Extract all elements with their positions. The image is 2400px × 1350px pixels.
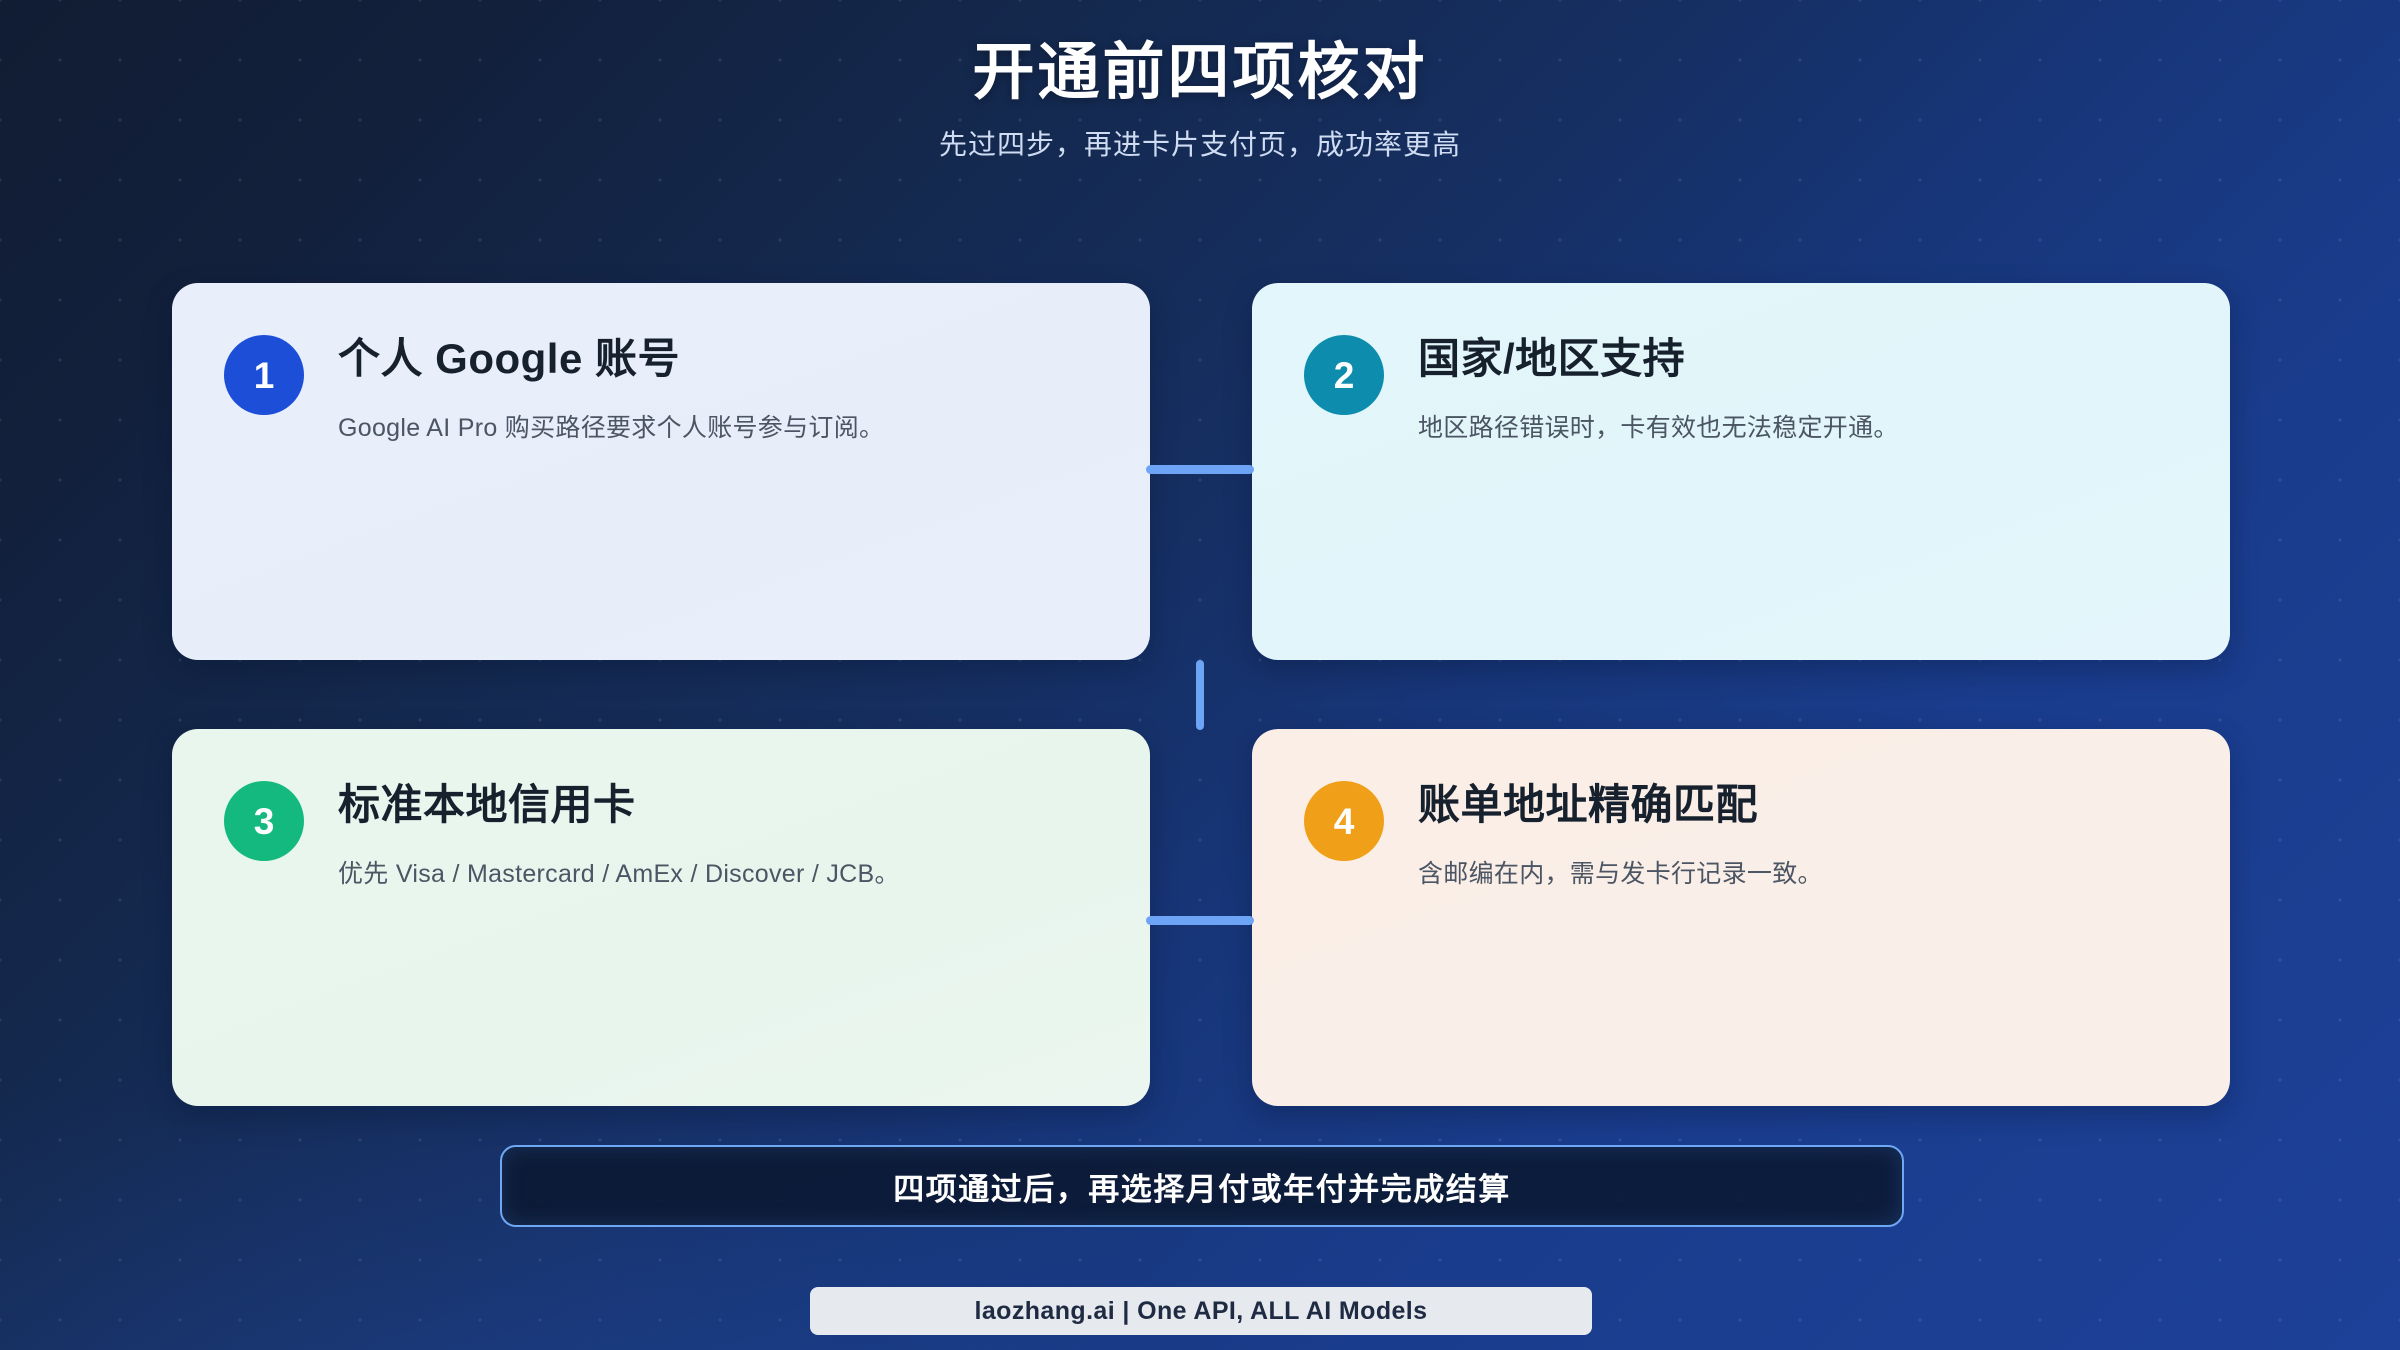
card-4-description: 含邮编在内，需与发卡行记录一致。 — [1418, 856, 2178, 894]
checklist-card-3: 3 标准本地信用卡 优先 Visa / Mastercard / AmEx / … — [172, 729, 1150, 1106]
connector-horizontal-bottom — [1146, 916, 1254, 925]
checklist-card-1: 1 个人 Google 账号 Google AI Pro 购买路径要求个人账号参… — [172, 283, 1150, 660]
card-1-description: Google AI Pro 购买路径要求个人账号参与订阅。 — [338, 410, 1098, 448]
summary-banner-text: 四项通过后，再选择月付或年付并完成结算 — [893, 1164, 1511, 1209]
card-2-description: 地区路径错误时，卡有效也无法稳定开通。 — [1418, 410, 2178, 448]
step-number-badge-3: 3 — [224, 781, 304, 861]
header: 开通前四项核对 先过四步，再进卡片支付页，成功率更高 — [0, 38, 2400, 163]
checklist-card-4: 4 账单地址精确匹配 含邮编在内，需与发卡行记录一致。 — [1252, 729, 2230, 1106]
infographic-canvas: 开通前四项核对 先过四步，再进卡片支付页，成功率更高 1 个人 Google 账… — [0, 0, 2400, 1350]
connector-horizontal-top — [1146, 465, 1254, 474]
card-2-text: 国家/地区支持 地区路径错误时，卡有效也无法稳定开通。 — [1418, 331, 2178, 448]
card-2-title: 国家/地区支持 — [1418, 333, 2178, 384]
card-4-text: 账单地址精确匹配 含邮编在内，需与发卡行记录一致。 — [1418, 777, 2178, 894]
summary-banner: 四项通过后，再选择月付或年付并完成结算 — [500, 1145, 1904, 1227]
card-1-text: 个人 Google 账号 Google AI Pro 购买路径要求个人账号参与订… — [338, 331, 1098, 448]
connector-vertical-center — [1196, 660, 1204, 730]
step-number-badge-1: 1 — [224, 335, 304, 415]
card-1-title: 个人 Google 账号 — [338, 333, 1098, 384]
card-4-title: 账单地址精确匹配 — [1418, 779, 2178, 830]
page-title: 开通前四项核对 — [0, 38, 2400, 107]
card-3-text: 标准本地信用卡 优先 Visa / Mastercard / AmEx / Di… — [338, 777, 1098, 894]
page-subtitle: 先过四步，再进卡片支付页，成功率更高 — [0, 123, 2400, 163]
credit-bar: laozhang.ai | One API, ALL AI Models — [810, 1287, 1592, 1335]
card-3-description: 优先 Visa / Mastercard / AmEx / Discover /… — [338, 856, 1098, 894]
checklist-card-2: 2 国家/地区支持 地区路径错误时，卡有效也无法稳定开通。 — [1252, 283, 2230, 660]
card-3-title: 标准本地信用卡 — [338, 779, 1098, 830]
credit-bar-text: laozhang.ai | One API, ALL AI Models — [975, 1297, 1428, 1326]
card-4-head: 4 账单地址精确匹配 含邮编在内，需与发卡行记录一致。 — [1304, 777, 2178, 894]
step-number-badge-4: 4 — [1304, 781, 1384, 861]
card-3-head: 3 标准本地信用卡 优先 Visa / Mastercard / AmEx / … — [224, 777, 1098, 894]
step-number-badge-2: 2 — [1304, 335, 1384, 415]
card-2-head: 2 国家/地区支持 地区路径错误时，卡有效也无法稳定开通。 — [1304, 331, 2178, 448]
card-1-head: 1 个人 Google 账号 Google AI Pro 购买路径要求个人账号参… — [224, 331, 1098, 448]
